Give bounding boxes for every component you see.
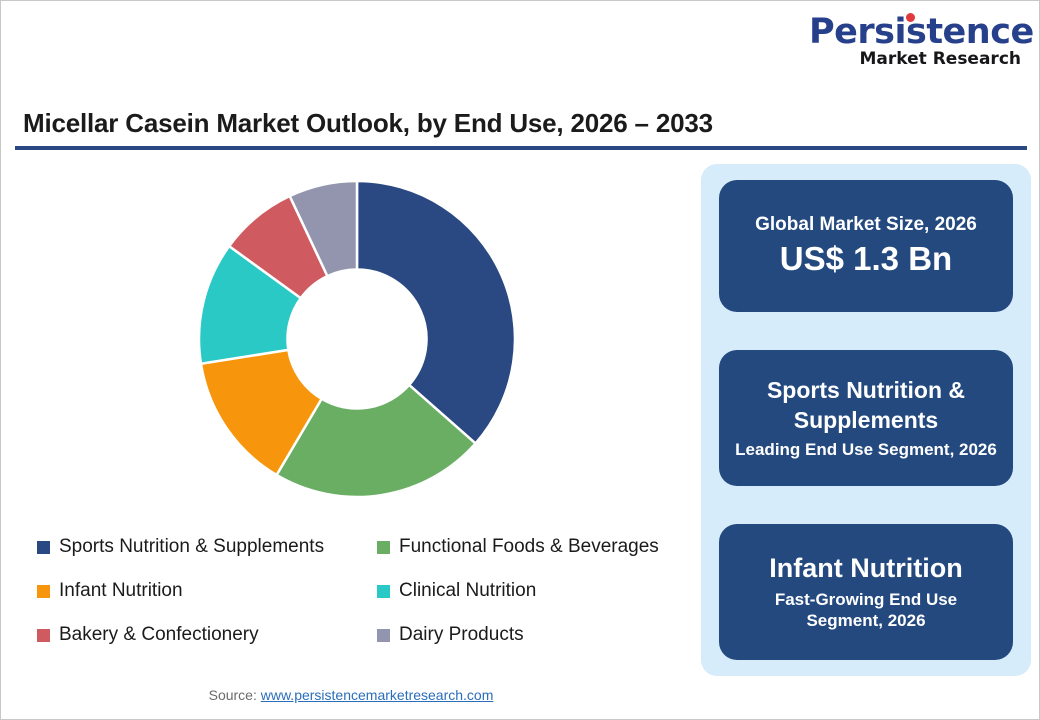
source-link[interactable]: www.persistencemarketresearch.com [261,687,494,703]
brand-logo: Persistence Market Research [809,15,1021,68]
kpi-value: US$ 1.3 Bn [780,238,952,279]
legend-item: Infant Nutrition [37,580,377,602]
legend-label: Functional Foods & Beverages [399,536,659,558]
kpi-card-leading-segment: Sports Nutrition & Supplements Leading E… [719,350,1013,486]
legend-swatch-icon [37,541,50,554]
kpi-subtitle: Fast-Growing End Use Segment, 2026 [735,589,997,632]
title-divider [15,146,1027,150]
legend-item: Bakery & Confectionery [37,624,377,646]
legend-label: Bakery & Confectionery [59,624,259,646]
legend-swatch-icon [37,585,50,598]
source-label: Source: [209,687,257,703]
donut-chart [197,179,517,499]
legend-swatch-icon [377,541,390,554]
kpi-heading: Infant Nutrition [769,552,962,586]
legend-item: Sports Nutrition & Supplements [37,536,377,558]
legend-label: Sports Nutrition & Supplements [59,536,324,558]
source-line: Source: www.persistencemarketresearch.co… [1,687,701,703]
kpi-card-market-size: Global Market Size, 2026 US$ 1.3 Bn [719,180,1013,312]
legend-item: Dairy Products [377,624,697,646]
legend-swatch-icon [377,629,390,642]
kpi-card-fastest-growing-segment: Infant Nutrition Fast-Growing End Use Se… [719,524,1013,660]
chart-area [1,156,701,526]
logo-dot-icon [906,13,915,22]
legend-item: Functional Foods & Beverages [377,536,697,558]
logo-tagline: Market Research [809,51,1021,68]
page-title: Micellar Casein Market Outlook, by End U… [23,108,713,139]
legend-label: Infant Nutrition [59,580,183,602]
kpi-subtitle: Leading End Use Segment, 2026 [735,439,997,460]
donut-svg [197,179,517,499]
kpi-panel: Global Market Size, 2026 US$ 1.3 Bn Spor… [701,164,1031,676]
legend-item: Clinical Nutrition [377,580,697,602]
legend-label: Dairy Products [399,624,524,646]
legend-swatch-icon [37,629,50,642]
legend-label: Clinical Nutrition [399,580,536,602]
logo-wordmark: Persistence [809,15,1034,50]
kpi-caption: Global Market Size, 2026 [755,213,977,237]
infographic-page: Persistence Market Research Micellar Cas… [0,0,1040,720]
legend-swatch-icon [377,585,390,598]
kpi-heading: Sports Nutrition & Supplements [735,376,997,436]
chart-legend: Sports Nutrition & SupplementsFunctional… [37,525,697,657]
donut-slice-group [199,181,515,497]
